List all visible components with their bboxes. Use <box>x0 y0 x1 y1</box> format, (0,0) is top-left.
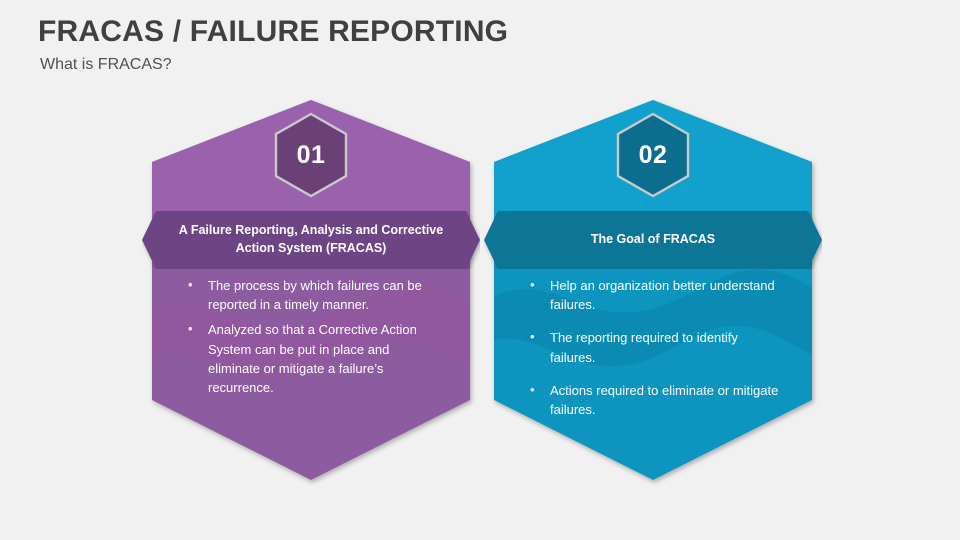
card-title-02: The Goal of FRACAS <box>484 211 822 269</box>
list-item: Analyzed so that a Corrective Action Sys… <box>186 320 440 397</box>
list-item: Actions required to eliminate or mitigat… <box>528 381 782 419</box>
card-number-badge-01: 01 <box>273 112 349 198</box>
card-bullet-list-02: Help an organization better understand f… <box>494 276 812 433</box>
list-item: The reporting required to identify failu… <box>528 328 782 366</box>
slide-canvas: FRACAS / FAILURE REPORTING What is FRACA… <box>0 0 960 540</box>
page-subtitle: What is FRACAS? <box>40 56 738 74</box>
card-number-text: 01 <box>297 143 326 168</box>
card-banner-01: A Failure Reporting, Analysis and Correc… <box>142 211 480 269</box>
list-item: The process by which failures can be rep… <box>186 276 440 314</box>
card-title-01: A Failure Reporting, Analysis and Correc… <box>142 211 480 269</box>
card-bullet-list-01: The process by which failures can be rep… <box>152 276 470 403</box>
card-banner-02: The Goal of FRACAS <box>484 211 822 269</box>
info-card-02[interactable]: 02 The Goal of FRACAS Help an organizati… <box>494 100 812 480</box>
card-number-text: 02 <box>639 143 668 168</box>
list-item: Help an organization better understand f… <box>528 276 782 314</box>
slide-header: FRACAS / FAILURE REPORTING What is FRACA… <box>38 14 738 74</box>
card-number-badge-02: 02 <box>615 112 691 198</box>
page-title: FRACAS / FAILURE REPORTING <box>38 14 738 50</box>
info-card-01[interactable]: 01 A Failure Reporting, Analysis and Cor… <box>152 100 470 480</box>
